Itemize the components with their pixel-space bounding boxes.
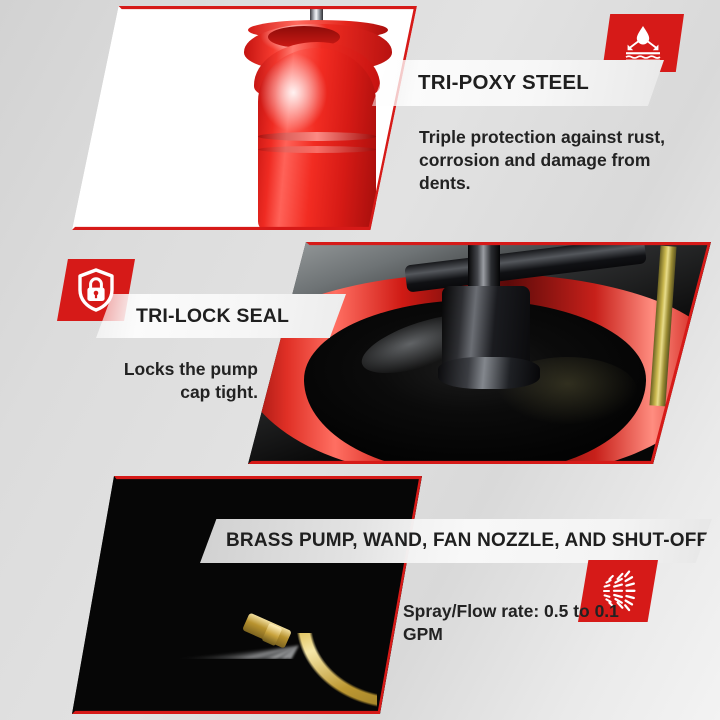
feature-heading-2: TRI-LOCK SEAL <box>136 305 289 328</box>
feature-body-2: Locks the pump cap tight. <box>90 358 258 404</box>
feature-photo-tri-lock-seal <box>248 242 711 464</box>
sprayer-tank-illustration <box>222 6 412 230</box>
feature-heading-1: TRI-POXY STEEL <box>418 71 589 95</box>
feature-photo-brass-pump-wand-nozzle <box>72 476 422 714</box>
feature-photo-tri-poxy-steel <box>72 6 417 230</box>
feature-heading-banner-1: TRI-POXY STEEL <box>372 60 664 106</box>
pump-cap-closeup-illustration <box>248 242 711 464</box>
feature-heading-3: BRASS PUMP, WAND, FAN NOZZLE, AND SHUT-O… <box>226 530 708 552</box>
feature-body-3: Spray/Flow rate: 0.5 to 0.1 GPM <box>403 600 633 646</box>
tank-ring-upper <box>258 132 376 141</box>
feature-body-1: Triple protection against rust, corrosio… <box>419 126 669 194</box>
infographic-canvas: TRI-POXY STEEL Triple protection against… <box>0 0 720 720</box>
tank-ring-lower <box>258 146 376 153</box>
spray-nozzle-illustration <box>72 476 422 714</box>
pump-cap-collar-nut <box>438 357 540 388</box>
feature-heading-banner-3: BRASS PUMP, WAND, FAN NOZZLE, AND SHUT-O… <box>200 519 712 563</box>
feature-heading-banner-2: TRI-LOCK SEAL <box>96 294 346 338</box>
